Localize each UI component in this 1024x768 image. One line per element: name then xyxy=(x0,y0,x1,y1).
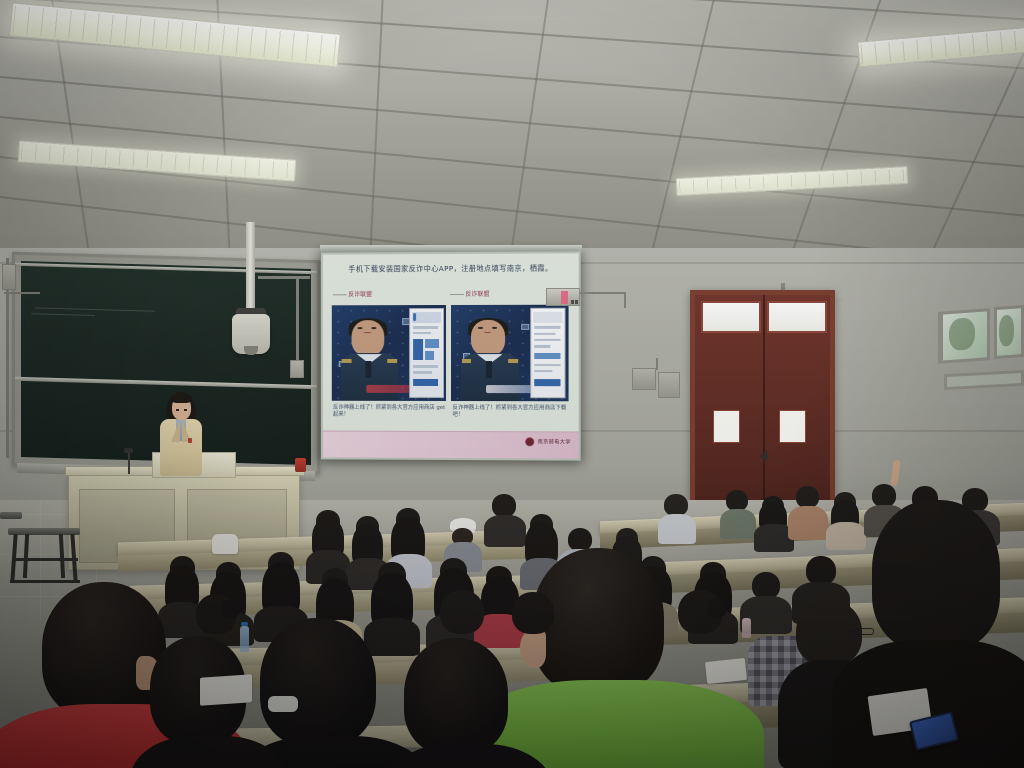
metal-stool xyxy=(8,528,80,584)
face-mask xyxy=(268,696,298,712)
door-handle-stem[interactable] xyxy=(764,451,767,461)
wall-electrical-box-1 xyxy=(632,368,656,390)
water-bottle xyxy=(240,626,249,652)
wall-electrical-box-left xyxy=(2,264,16,290)
slide-video-right xyxy=(451,305,568,401)
door-transom-left xyxy=(701,301,761,333)
projector-rail xyxy=(258,276,310,279)
slide-caption-left: 反诈神器上线了！抓紧到各大官方应用商店 get 起来！ xyxy=(333,405,450,420)
control-panel-indicator xyxy=(561,291,568,304)
microphone xyxy=(124,448,133,453)
slide-subheading-left: 反诈联盟 xyxy=(348,289,372,298)
officer-head-2 xyxy=(471,320,505,356)
projection-screen: 手机下载安装国家反诈中心APP，注册地点填写南京，栖霞。 反诈联盟 反诈联盟 xyxy=(321,251,581,460)
plastic-bag xyxy=(212,534,238,554)
slide-dash-left xyxy=(333,294,347,295)
water-bottle-2 xyxy=(742,618,751,638)
door-window-right xyxy=(779,410,806,443)
stool-seat xyxy=(8,528,80,535)
door-window-left xyxy=(713,410,740,443)
slide-footer: 南京邮电大学 xyxy=(323,431,579,459)
eyeglasses xyxy=(854,628,874,635)
university-logo-mark xyxy=(526,437,535,446)
wall-conduit-horizontal xyxy=(4,292,40,294)
projector-rail-box xyxy=(290,360,304,378)
wall-electrical-box-2 xyxy=(658,372,680,398)
slide-app-screenshot-left xyxy=(409,308,443,398)
classroom-door[interactable] xyxy=(690,290,835,505)
presenter xyxy=(158,392,204,476)
slide-title: 手机下载安装国家反诈中心APP，注册地点填写南京，栖霞。 xyxy=(333,264,568,274)
presenter-fringe xyxy=(171,393,192,403)
slide-caption-right: 反诈神器上线了！抓紧到各大官方应用商店下载吧！ xyxy=(453,405,571,420)
door-split-line xyxy=(763,295,765,500)
projector-mount-pole xyxy=(246,222,255,318)
wall-control-panel[interactable] xyxy=(546,288,580,306)
ceiling xyxy=(0,0,1024,262)
slide-app-screenshot-right xyxy=(531,308,566,399)
slide-video-left xyxy=(332,305,446,401)
water-bottle-cap xyxy=(241,622,248,626)
slide-dash-right xyxy=(450,294,464,295)
red-cup xyxy=(295,458,306,472)
door-transom-right xyxy=(767,301,827,333)
lecture-hall-photo: 手机下载安装国家反诈中心APP，注册地点填写南京，栖霞。 反诈联盟 反诈联盟 xyxy=(0,0,1024,768)
presenter-badge xyxy=(188,438,192,443)
projector-rail-drop xyxy=(296,276,299,360)
university-logo: 南京邮电大学 xyxy=(526,437,571,446)
side-window-1 xyxy=(938,308,990,364)
slide-subheading-right: 反诈联盟 xyxy=(465,289,489,298)
university-logo-text: 南京邮电大学 xyxy=(538,438,571,445)
red-hoodie-head xyxy=(42,582,166,718)
hair-bun xyxy=(222,600,240,618)
open-notebook xyxy=(200,674,252,706)
side-window-2 xyxy=(994,305,1024,359)
notes-sheet xyxy=(705,658,747,684)
wall-conduit-right xyxy=(580,292,626,294)
wall-conduit-box xyxy=(656,358,658,370)
wall-conduit-right-drop xyxy=(624,292,626,308)
microphone-stand xyxy=(128,452,130,474)
stool-2-seat xyxy=(0,512,22,519)
slide-captions: 反诈神器上线了！抓紧到各大官方应用商店 get 起来！ 反诈神器上线了！抓紧到各… xyxy=(323,405,579,432)
officer-head xyxy=(351,320,384,355)
